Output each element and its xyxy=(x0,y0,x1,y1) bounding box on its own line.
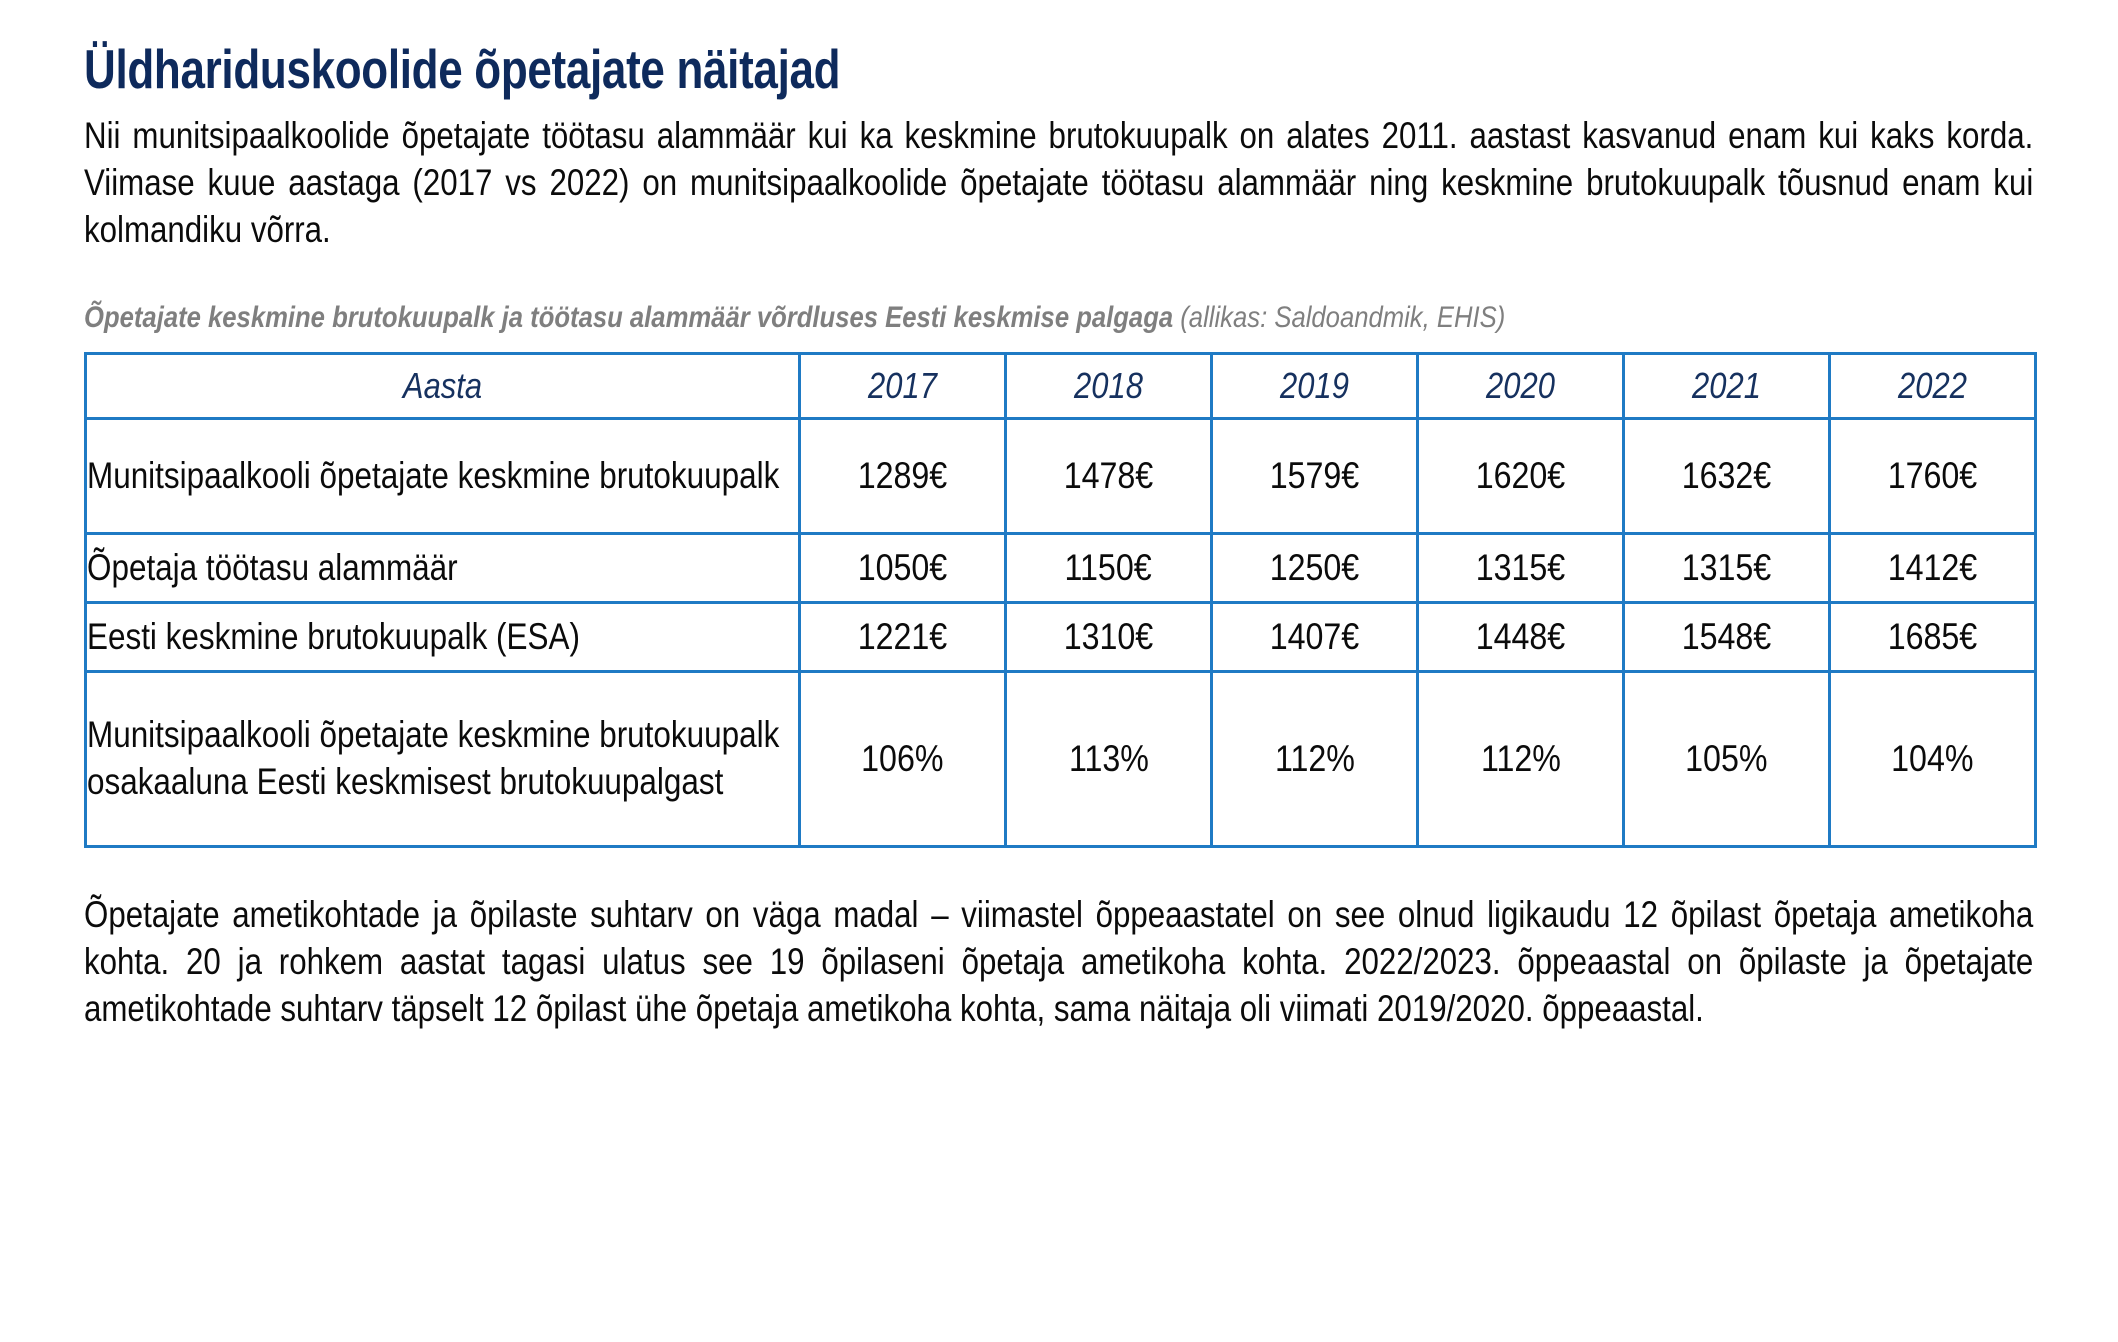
row-label: Eesti keskmine brutokuupalk (ESA) xyxy=(86,603,800,672)
table-row: Õpetaja töötasu alammäär 1050€ 1150€ 125… xyxy=(86,534,2036,603)
cell-value: 1150€ xyxy=(1006,534,1212,603)
table-wrapper: Aasta 2017 2018 2019 2020 2021 2022 Muni… xyxy=(84,352,2034,848)
page-title: Üldhariduskoolide õpetajate näitajad xyxy=(84,40,1644,99)
document-page: Üldhariduskoolide õpetajate näitajad Nii… xyxy=(0,0,2118,1342)
row-label: Munitsipaalkooli õpetajate keskmine brut… xyxy=(86,672,800,847)
column-header-aasta: Aasta xyxy=(86,354,800,419)
cell-value: 1050€ xyxy=(800,534,1006,603)
cell-value: 1250€ xyxy=(1212,534,1418,603)
cell-value: 1315€ xyxy=(1418,534,1624,603)
column-header-2022: 2022 xyxy=(1830,354,2036,419)
column-header-2019: 2019 xyxy=(1212,354,1418,419)
cell-value: 112% xyxy=(1418,672,1624,847)
cell-value: 1478€ xyxy=(1006,419,1212,534)
cell-value: 1412€ xyxy=(1830,534,2036,603)
table-caption-main: Õpetajate keskmine brutokuupalk ja tööta… xyxy=(84,301,1173,334)
table-caption: Õpetajate keskmine brutokuupalk ja tööta… xyxy=(84,300,1751,336)
column-header-2018: 2018 xyxy=(1006,354,1212,419)
table-caption-source: (allikas: Saldoandmik, EHIS) xyxy=(1180,301,1505,334)
cell-value: 113% xyxy=(1006,672,1212,847)
outro-paragraph: Õpetajate ametikohtade ja õpilaste suhta… xyxy=(84,892,2033,1033)
column-header-2017: 2017 xyxy=(800,354,1006,419)
cell-value: 1289€ xyxy=(800,419,1006,534)
cell-value: 1579€ xyxy=(1212,419,1418,534)
cell-value: 106% xyxy=(800,672,1006,847)
intro-paragraph: Nii munitsipaalkoolide õpetajate töötasu… xyxy=(84,113,2033,254)
row-label: Munitsipaalkooli õpetajate keskmine brut… xyxy=(86,419,800,534)
cell-value: 105% xyxy=(1624,672,1830,847)
cell-value: 1632€ xyxy=(1624,419,1830,534)
cell-value: 1685€ xyxy=(1830,603,2036,672)
cell-value: 1448€ xyxy=(1418,603,1624,672)
cell-value: 1315€ xyxy=(1624,534,1830,603)
cell-value: 1620€ xyxy=(1418,419,1624,534)
table-row: Eesti keskmine brutokuupalk (ESA) 1221€ … xyxy=(86,603,2036,672)
column-header-2021: 2021 xyxy=(1624,354,1830,419)
cell-value: 1760€ xyxy=(1830,419,2036,534)
table-row: Munitsipaalkooli õpetajate keskmine brut… xyxy=(86,419,2036,534)
cell-value: 1221€ xyxy=(800,603,1006,672)
row-label: Õpetaja töötasu alammäär xyxy=(86,534,800,603)
table-row: Munitsipaalkooli õpetajate keskmine brut… xyxy=(86,672,2036,847)
cell-value: 1548€ xyxy=(1624,603,1830,672)
table-header-row: Aasta 2017 2018 2019 2020 2021 2022 xyxy=(86,354,2036,419)
cell-value: 1310€ xyxy=(1006,603,1212,672)
cell-value: 112% xyxy=(1212,672,1418,847)
cell-value: 104% xyxy=(1830,672,2036,847)
cell-value: 1407€ xyxy=(1212,603,1418,672)
column-header-2020: 2020 xyxy=(1418,354,1624,419)
teacher-salary-table: Aasta 2017 2018 2019 2020 2021 2022 Muni… xyxy=(84,352,2037,848)
